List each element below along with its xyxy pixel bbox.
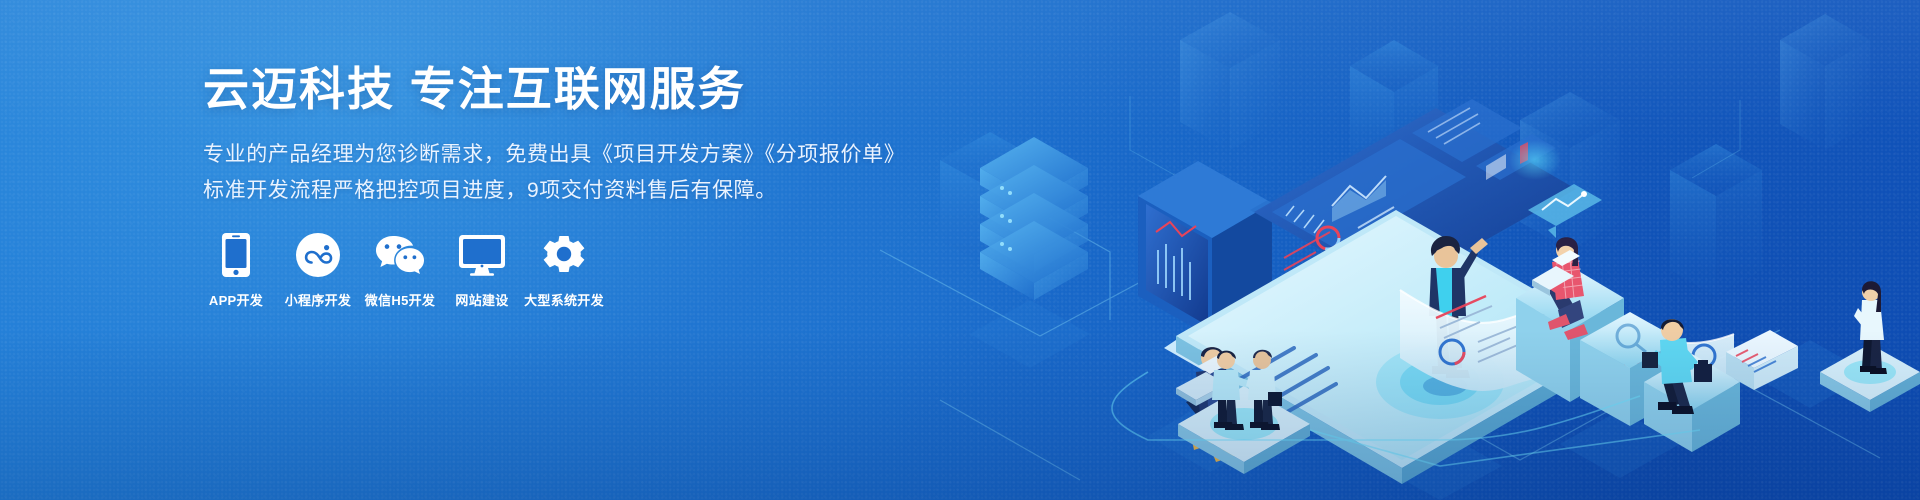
service-item-app[interactable]: APP开发	[200, 230, 272, 307]
mobile-phone-icon	[221, 230, 251, 280]
monitor-icon	[458, 230, 506, 280]
mini-program-icon	[295, 230, 341, 280]
service-label: 小程序开发	[285, 294, 352, 307]
service-list: APP开发 小程序开发	[200, 230, 610, 307]
hero-banner: 云迈科技 专注互联网服务 专业的产品经理为您诊断需求，免费出具《项目开发方案》《…	[0, 0, 1920, 500]
service-item-website[interactable]: 网站建设	[446, 230, 518, 307]
page-title: 云迈科技 专注互联网服务	[203, 66, 963, 112]
gear-icon	[542, 230, 586, 280]
service-item-miniprogram[interactable]: 小程序开发	[282, 230, 354, 307]
hero-copy: 云迈科技 专注互联网服务 专业的产品经理为您诊断需求，免费出具《项目开发方案》《…	[203, 66, 963, 208]
service-label: 大型系统开发	[524, 294, 604, 307]
woman-standing-platform	[1820, 281, 1920, 412]
service-label: 微信H5开发	[365, 294, 435, 307]
service-item-large-system[interactable]: 大型系统开发	[528, 230, 600, 307]
subtitle-line-1: 专业的产品经理为您诊断需求，免费出具《项目开发方案》《分项报价单》	[203, 138, 963, 172]
server-stack	[980, 137, 1088, 300]
service-item-wechat-h5[interactable]: 微信H5开发	[364, 230, 436, 307]
wechat-icon	[374, 230, 426, 280]
service-label: 网站建设	[455, 294, 508, 307]
service-label: APP开发	[209, 294, 263, 307]
isometric-tech-teamwork-illustration	[880, 0, 1920, 500]
subtitle-line-2: 标准开发流程严格把控项目进度，9项交付资料售后有保障。	[203, 174, 963, 208]
